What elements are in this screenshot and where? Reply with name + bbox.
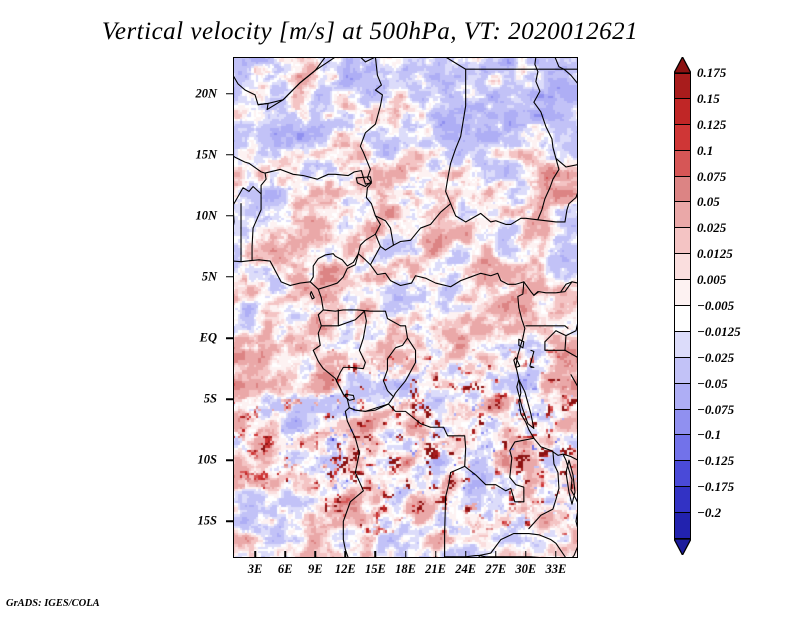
colorbar-tick-label: 0.1 — [697, 143, 713, 159]
border-path — [233, 205, 234, 261]
border-path — [445, 556, 556, 558]
colorbar-segment — [674, 228, 691, 254]
border-path — [545, 331, 566, 351]
colorbar-segment — [674, 125, 691, 151]
lat-tick-label: 5N — [37, 269, 217, 284]
lat-tick-label: EQ — [37, 331, 217, 346]
colorbar-tick-label: −0.175 — [697, 479, 734, 495]
colorbar-segment — [674, 306, 691, 332]
colorbar-segment — [674, 280, 691, 306]
lat-tick-label: 10S — [37, 453, 217, 468]
colorbar-tick-label: 0.05 — [697, 194, 720, 210]
border-path — [233, 57, 325, 110]
colorbar-tick-label: −0.025 — [697, 350, 734, 366]
border-path — [375, 234, 393, 250]
border-path — [565, 350, 578, 357]
colorbar-tick-label: −0.05 — [697, 376, 728, 392]
colorbar-tick-label: −0.2 — [697, 505, 721, 521]
border-path — [345, 394, 354, 400]
lon-tick-label: 15E — [365, 562, 386, 577]
colorbar-segment — [674, 410, 691, 436]
colorbar-segment — [674, 99, 691, 125]
lon-tick-mark — [375, 551, 377, 558]
lon-tick-mark — [435, 551, 437, 558]
colorbar-tick-label: 0.175 — [697, 65, 726, 81]
lon-tick-label: 12E — [335, 562, 356, 577]
lat-tick-mark — [226, 93, 233, 95]
lat-tick-mark — [226, 337, 233, 339]
lon-tick-mark — [525, 551, 527, 558]
lon-tick-mark — [345, 551, 347, 558]
page-title: Vertical velocity [m/s] at 500hPa, VT: 2… — [0, 18, 740, 46]
border-path — [358, 254, 534, 296]
lat-tick-label: 10N — [37, 208, 217, 223]
border-path — [370, 246, 380, 264]
lon-tick-label: 27E — [485, 562, 506, 577]
border-path — [561, 282, 578, 292]
colorbar-tick-label: −0.1 — [697, 427, 721, 443]
colorbar-tick-label: 0.025 — [697, 220, 726, 236]
border-path — [258, 57, 335, 105]
lon-tick-label: 9E — [308, 562, 323, 577]
lon-tick-mark — [495, 551, 497, 558]
lon-tick-mark — [555, 551, 557, 558]
colorbar-segment — [674, 254, 691, 280]
lon-tick-label: 21E — [425, 562, 446, 577]
lat-tick-mark — [226, 398, 233, 400]
lon-tick-label: 6E — [278, 562, 293, 577]
border-path — [510, 282, 534, 502]
colorbar-tick-label: −0.005 — [697, 298, 734, 314]
border-path — [375, 204, 450, 246]
colorbar-segment — [674, 487, 691, 513]
border-path — [265, 169, 371, 184]
colorbar-segment — [674, 358, 691, 384]
colorbar-segment — [674, 202, 691, 228]
border-path — [479, 534, 566, 558]
border-path — [336, 311, 366, 394]
border-path — [576, 503, 578, 534]
border-path — [252, 194, 261, 261]
border-path — [566, 322, 578, 335]
country-borders-overlay — [233, 57, 578, 558]
lat-tick-mark — [226, 154, 233, 156]
lon-tick-mark — [254, 551, 256, 558]
colorbar-tick-label: −0.0125 — [697, 324, 741, 340]
colorbar-tick-label: 0.075 — [697, 169, 726, 185]
border-path — [534, 57, 559, 220]
colorbar-segment — [674, 177, 691, 203]
lat-tick-mark — [226, 521, 233, 523]
lat-tick-mark — [226, 459, 233, 461]
border-path — [526, 326, 568, 328]
lon-tick-label: 30E — [515, 562, 536, 577]
colorbar-segment — [674, 73, 691, 99]
colorbar-tick-label: −0.125 — [697, 453, 734, 469]
colorbar-segment — [674, 513, 691, 539]
attribution-footer: GrADS: IGES/COLA — [6, 598, 100, 609]
border-path — [338, 310, 364, 326]
lon-tick-mark — [284, 551, 286, 558]
lat-tick-label: 20N — [37, 86, 217, 101]
border-path — [310, 254, 358, 282]
colorbar-tick-label: 0.005 — [697, 272, 726, 288]
lon-tick-label: 24E — [455, 562, 476, 577]
border-path — [571, 375, 578, 387]
lat-tick-mark — [226, 276, 233, 278]
lat-tick-mark — [226, 215, 233, 217]
border-path — [572, 546, 578, 558]
border-path — [556, 158, 578, 167]
colorbar-segment — [674, 461, 691, 487]
colorbar-segment — [674, 435, 691, 461]
lon-tick-mark — [314, 551, 316, 558]
lon-tick-label: 18E — [395, 562, 416, 577]
colorbar-tick-label: 0.125 — [697, 117, 726, 133]
colorbar-segment — [674, 384, 691, 410]
lat-tick-label: 15N — [37, 147, 217, 162]
lat-tick-label: 15S — [37, 514, 217, 529]
lon-tick-label: 3E — [248, 562, 263, 577]
lon-tick-mark — [465, 551, 467, 558]
border-path — [349, 404, 465, 557]
lon-tick-mark — [405, 551, 407, 558]
colorbar-bottom-arrow — [674, 539, 691, 555]
border-path — [563, 454, 578, 503]
border-path — [530, 350, 534, 367]
lat-tick-label: 5S — [37, 392, 217, 407]
border-path — [566, 460, 575, 504]
colorbar-tick-label: 0.15 — [697, 91, 720, 107]
border-path — [555, 57, 578, 84]
border-path — [529, 452, 559, 529]
lon-tick-label: 33E — [546, 562, 567, 577]
colorbar-tick-label: −0.075 — [697, 402, 734, 418]
border-path — [534, 438, 578, 460]
border-path — [233, 260, 363, 558]
border-path — [310, 292, 314, 299]
colorbar-segment — [674, 332, 691, 358]
colorbar-tick-label: 0.0125 — [697, 246, 733, 262]
border-path — [565, 191, 578, 222]
map-plot-area — [233, 57, 578, 558]
colorbar — [674, 57, 691, 555]
colorbar-top-arrow — [674, 57, 691, 73]
colorbar-segment — [674, 151, 691, 177]
